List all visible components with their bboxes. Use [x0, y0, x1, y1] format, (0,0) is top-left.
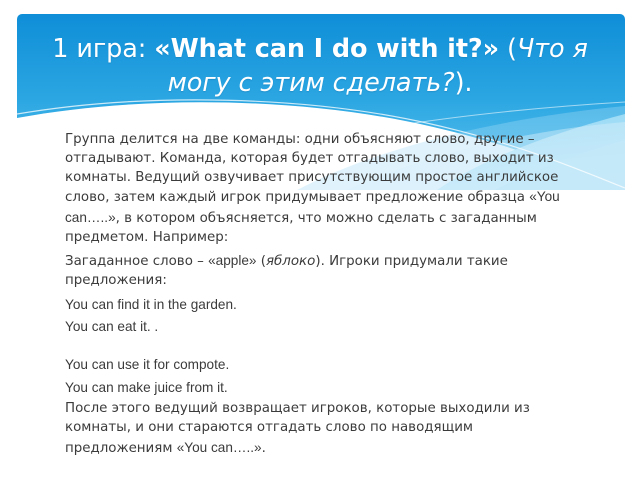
example-english-word: «apple» — [208, 253, 256, 268]
example-sentence-3: You can use it for compote. — [65, 355, 582, 374]
outro-segment-3: . — [262, 441, 266, 456]
title-paren-open: ( — [507, 34, 517, 64]
title-english-quote: «What can I do with it?» — [154, 34, 499, 64]
intro-segment-3: , в котором объясняется, что можно сдела… — [65, 211, 537, 245]
paragraph-example-word: Загаданное слово – «apple» (яблоко). Игр… — [65, 251, 582, 291]
example-sentence-1: You can find it in the garden. — [65, 295, 582, 314]
paragraph-intro: Группа делится на две команды: одни объя… — [65, 131, 582, 248]
title-space — [499, 34, 507, 64]
outro-segment-1: После этого ведущий возвращает игроков, … — [65, 401, 530, 456]
body-text-block: Группа делится на две команды: одни объя… — [65, 131, 582, 459]
outro-pattern-phrase: «You can…..» — [177, 440, 262, 455]
page-title: 1 игра: «What can I do with it?» (Что я … — [17, 32, 625, 101]
title-paren-close: ). — [455, 68, 473, 98]
intro-segment-1: Группа делится на две команды: одни объя… — [65, 132, 558, 205]
blank-line — [65, 336, 582, 355]
paragraph-outro: После этого ведущий возвращает игроков, … — [65, 400, 582, 458]
example-segment-3: ( — [257, 254, 266, 269]
title-prefix: 1 игра: — [52, 34, 154, 64]
example-sentence-2: You can eat it. . — [65, 317, 582, 336]
example-segment-1: Загаданное слово – — [65, 254, 208, 269]
slide-canvas: 1 игра: «What can I do with it?» (Что я … — [0, 0, 640, 480]
example-sentence-4: You can make juice from it. — [65, 378, 582, 397]
example-russian-translation: яблоко — [266, 254, 315, 269]
